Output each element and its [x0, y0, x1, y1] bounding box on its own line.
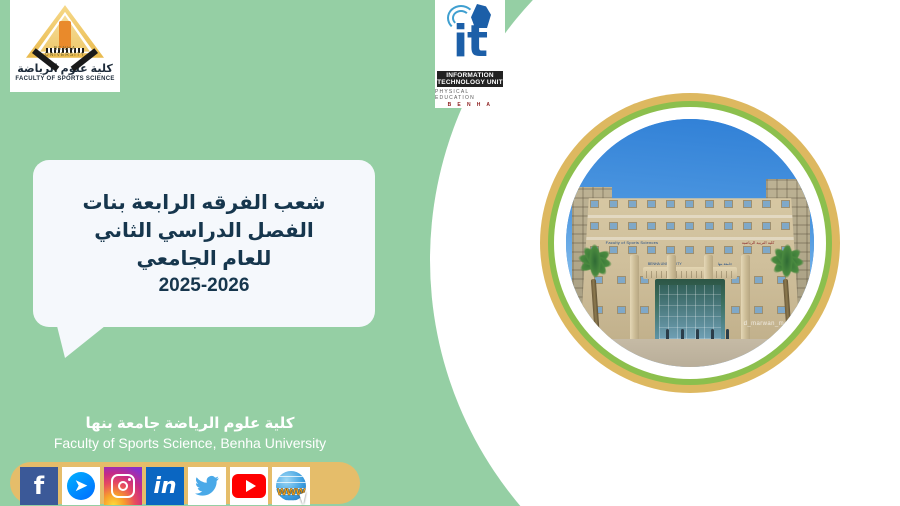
messenger-icon[interactable]: ➤: [62, 467, 100, 505]
palm-frond: [588, 244, 601, 278]
instagram-camera-glyph: [111, 474, 135, 498]
bubble-line-1: شعب الفرقه الرابعة بنات: [82, 189, 325, 217]
photo-watermark: d_marwan_m: [744, 321, 784, 327]
window-row: [580, 221, 800, 230]
it-letters: it: [439, 20, 501, 64]
twitter-icon[interactable]: [188, 467, 226, 505]
footer-arabic: كلية علوم الرياضة جامعة بنها: [0, 414, 380, 434]
palm-frond: [780, 244, 793, 278]
announcement-bubble: شعب الفرقه الرابعة بنات الفصل الدراسي ال…: [33, 160, 375, 327]
footer-faculty-name: كلية علوم الرياضة جامعة بنها Faculty of …: [0, 414, 380, 453]
youtube-play-glyph: [232, 474, 266, 498]
messenger-bubble: ➤: [67, 472, 95, 500]
it-unit-title: INFORMATION TECHNOLOGY UNIT: [437, 71, 503, 87]
faculty-logo-english: FACULTY OF SPORTS SCIENCE: [15, 76, 114, 82]
faculty-logo: BENHA UNIVERSITY كلية علوم الرياضة FACUL…: [10, 0, 120, 92]
social-links: f ➤ in WWW: [20, 466, 310, 506]
medallion-white-ring: Faculty of Sports Sciences كلية التربية …: [554, 107, 826, 379]
emblem-arc-text: BENHA UNIVERSITY: [35, 46, 94, 60]
it-mark-icon: it: [439, 2, 501, 71]
palm-tree-left: [568, 245, 622, 341]
footer-english: Faculty of Sports Science, Benha Univers…: [0, 434, 380, 453]
youtube-icon[interactable]: [230, 467, 268, 505]
palm-trunk: [783, 279, 792, 341]
emblem-obelisk-icon: [59, 21, 71, 49]
it-unit-sub1: PHYSICAL EDUCATION: [435, 89, 505, 101]
cornice: [580, 215, 800, 218]
benha-university-emblem-icon: BENHA UNIVERSITY: [26, 4, 104, 60]
it-unit-sub2: B E N H A: [448, 102, 493, 108]
bubble-line-2: الفصل الدراسي الثاني: [94, 217, 313, 245]
linkedin-icon[interactable]: in: [146, 467, 184, 505]
people-group: [660, 325, 734, 339]
website-icon[interactable]: WWW: [272, 467, 310, 505]
window-row: [580, 199, 800, 208]
twitter-bird-glyph: [192, 473, 222, 499]
medallion-green-ring: Faculty of Sports Sciences كلية التربية …: [548, 101, 832, 385]
bubble-line-3: للعام الجامعي: [137, 245, 272, 273]
it-unit-logo: it INFORMATION TECHNOLOGY UNIT PHYSICAL …: [435, 0, 505, 108]
palm-trunk: [591, 279, 600, 341]
faculty-building-photo: Faculty of Sports Sciences كلية التربية …: [566, 119, 814, 367]
poster-canvas: Faculty of Sports Sciences كلية التربية …: [0, 0, 900, 506]
facebook-icon[interactable]: f: [20, 467, 58, 505]
bubble-academic-year: 2025-2026: [159, 273, 250, 299]
faculty-logo-arabic: كلية علوم الرياضة: [17, 62, 112, 75]
photo-medallion: Faculty of Sports Sciences كلية التربية …: [540, 93, 840, 393]
bubble-tail: [57, 326, 105, 358]
instagram-icon[interactable]: [104, 467, 142, 505]
